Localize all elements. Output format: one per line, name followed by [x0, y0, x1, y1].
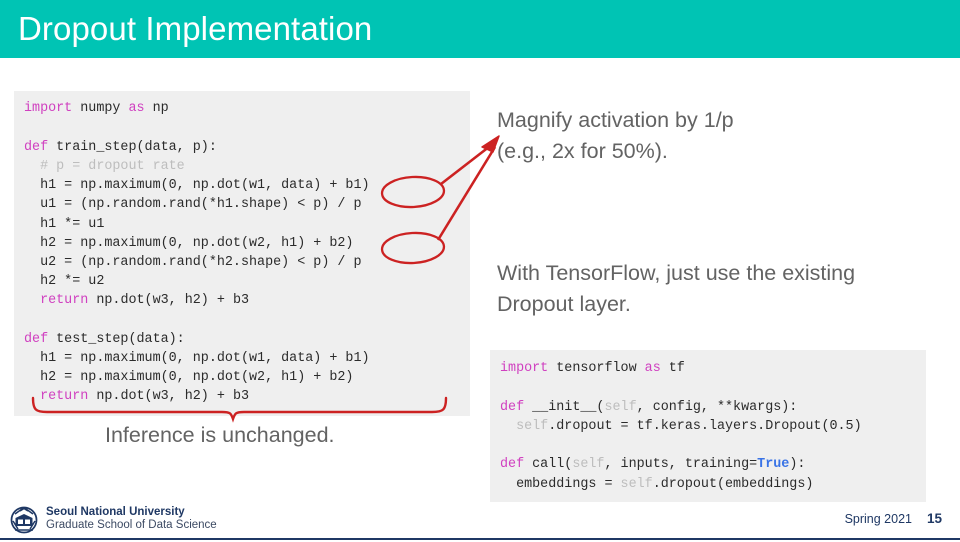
code-block-tensorflow-dropout: import tensorflow as tf def __init__(sel…: [490, 350, 926, 502]
footer-university-name: Seoul National University: [46, 506, 185, 518]
slide-header-bar: Dropout Implementation: [0, 0, 960, 58]
code-block-train-step: import numpy as np def train_step(data, …: [14, 91, 470, 416]
footer-divider-rule: [0, 538, 960, 540]
callout-magnify-activation: Magnify activation by 1/p(e.g., 2x for 5…: [497, 105, 917, 167]
page-title: Dropout Implementation: [18, 6, 372, 52]
footer-term-label: Spring 2021: [845, 512, 912, 526]
caption-inference-unchanged: Inference is unchanged.: [105, 420, 335, 450]
footer-school-name: Graduate School of Data Science: [46, 519, 217, 531]
footer-page-number: 15: [927, 511, 942, 526]
callout-tensorflow-note: With TensorFlow, just use the existingDr…: [497, 258, 917, 320]
snu-crest-logo: [8, 504, 40, 536]
